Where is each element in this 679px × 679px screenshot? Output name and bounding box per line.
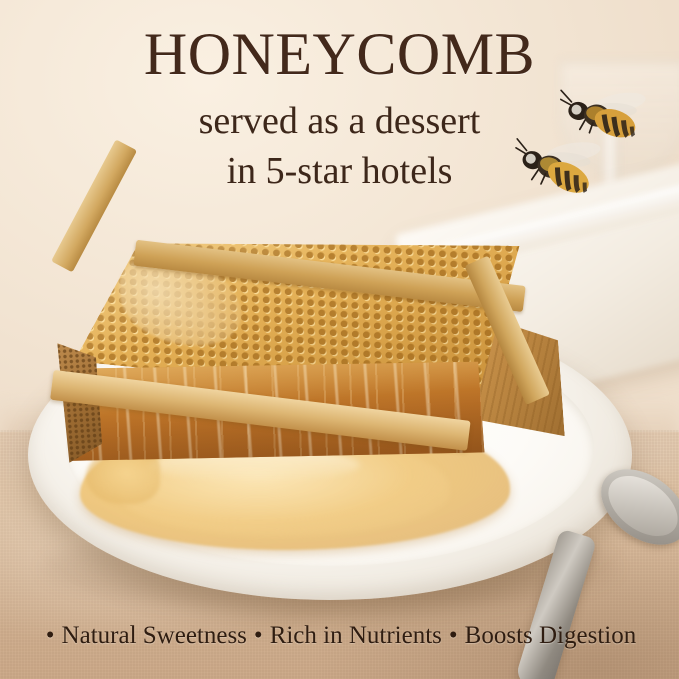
benefit-bullet-1: • xyxy=(249,622,268,650)
benefit-label-boosts-digestion: Boosts Digestion xyxy=(463,622,639,650)
benefit-label-rich-in-nutrients: Rich in Nutrients xyxy=(268,622,444,650)
poster-headline: HONEYCOMB xyxy=(0,24,679,84)
benefit-label-natural-sweetness: Natural Sweetness xyxy=(60,622,249,650)
poster-subline-1: served as a dessert xyxy=(0,102,679,140)
benefit-bullet-0: • xyxy=(41,622,60,650)
benefits-bar: • Natural Sweetness • Rich in Nutrients … xyxy=(0,622,679,650)
poster-subline-2: in 5-star hotels xyxy=(0,152,679,190)
poster-canvas: HONEYCOMB served as a dessert in 5-star … xyxy=(0,0,679,679)
benefit-bullet-2: • xyxy=(444,622,463,650)
honeycomb-block xyxy=(43,215,570,540)
